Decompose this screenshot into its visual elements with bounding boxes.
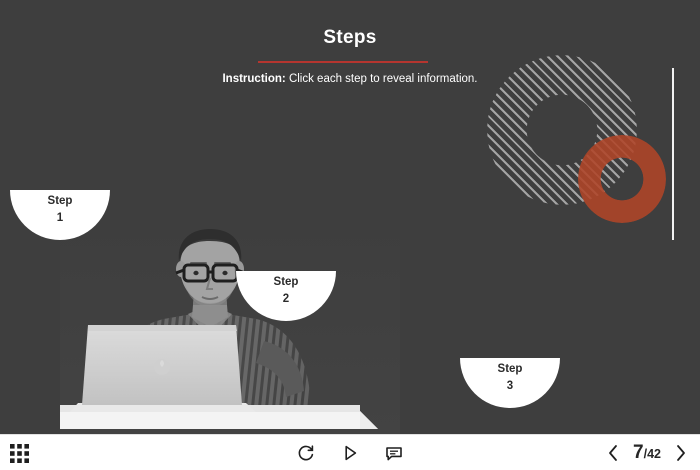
- instruction-text: Instruction: Click each step to reveal i…: [0, 73, 700, 85]
- page-indicator: 7 /42: [633, 442, 661, 464]
- slide-canvas: Steps Instruction: Click each step to re…: [0, 0, 700, 434]
- player-window: Steps Instruction: Click each step to re…: [0, 0, 700, 470]
- step-2-label: Step: [236, 274, 336, 291]
- vertical-rule-decoration: [672, 68, 674, 240]
- orange-ring-decoration: [578, 135, 666, 223]
- step-1-label: Step: [10, 193, 110, 210]
- chevron-right-icon[interactable]: [674, 443, 688, 463]
- step-3-label: Step: [460, 361, 560, 378]
- instruction-label: Instruction:: [222, 73, 285, 85]
- comment-icon[interactable]: [383, 442, 405, 464]
- step-2-number: 2: [236, 291, 336, 308]
- total-pages: /42: [644, 447, 661, 461]
- playback-controls: [0, 435, 700, 470]
- player-control-bar: 7 /42: [0, 434, 700, 470]
- chevron-left-icon[interactable]: [606, 443, 620, 463]
- pagination: 7 /42: [606, 435, 688, 470]
- current-page: 7: [633, 442, 644, 464]
- photo-man-at-laptop: [60, 215, 400, 434]
- step-marker-3[interactable]: Step 3: [460, 358, 560, 408]
- grid-menu-icon[interactable]: [10, 444, 29, 463]
- step-3-number: 3: [460, 378, 560, 395]
- replay-icon[interactable]: [295, 442, 317, 464]
- play-icon[interactable]: [339, 442, 361, 464]
- instruction-body: Click each step to reveal information.: [289, 73, 478, 85]
- title-underline: [258, 61, 428, 63]
- page-title: Steps: [0, 27, 700, 49]
- step-1-number: 1: [10, 210, 110, 227]
